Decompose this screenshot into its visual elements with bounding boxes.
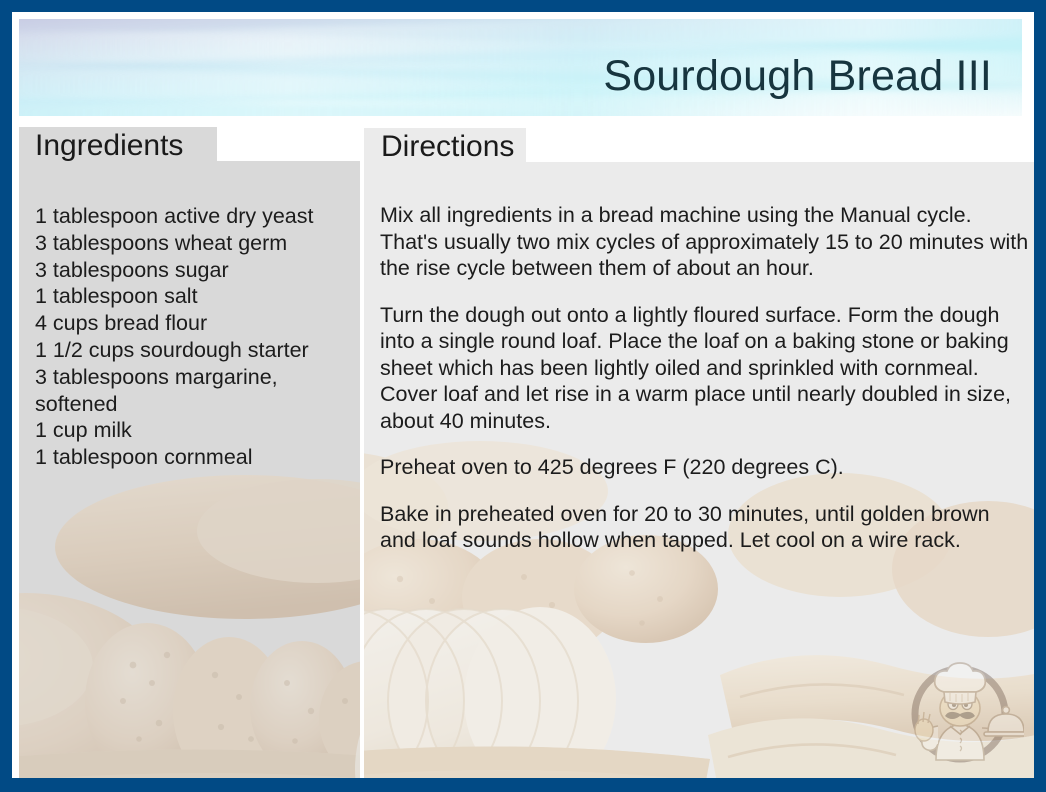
directions-body: Mix all ingredients in a bread machine u… [380,202,1030,554]
directions-header-notch [526,128,1034,162]
directions-heading: Directions [381,130,514,164]
direction-paragraph: Bake in preheated oven for 20 to 30 minu… [380,501,1030,554]
ingredient-item: 1 cup milk [35,417,350,444]
ingredients-heading: Ingredients [35,129,183,163]
chef-with-cloche-logo [902,648,1024,770]
ingredient-item: 3 tablespoons wheat germ [35,230,350,257]
header-banner: Sourdough Bread III [19,19,1022,116]
ingredient-item: 1 1/2 cups sourdough starter [35,337,350,364]
ingredients-panel: Ingredients [19,127,360,778]
ingredient-item: 1 tablespoon cornmeal [35,444,350,471]
ingredients-header-notch [217,127,360,161]
ingredient-item: 4 cups bread flour [35,310,350,337]
ingredient-item-continued: softened [35,391,350,418]
ingredient-item: 3 tablespoons sugar [35,257,350,284]
direction-paragraph: Turn the dough out onto a lightly floure… [380,302,1030,435]
bread-photo [19,439,360,778]
ingredients-list: 1 tablespoon active dry yeast 3 tablespo… [35,203,350,471]
ingredient-item: 1 tablespoon salt [35,283,350,310]
direction-paragraph: Preheat oven to 425 degrees F (220 degre… [380,454,1030,481]
ingredient-item: 1 tablespoon active dry yeast [35,203,350,230]
direction-paragraph: Mix all ingredients in a bread machine u… [380,202,1030,282]
recipe-card: Sourdough Bread III Ingredients [0,0,1046,792]
recipe-title: Sourdough Bread III [603,52,992,101]
ingredient-item: 3 tablespoons margarine, [35,364,350,391]
